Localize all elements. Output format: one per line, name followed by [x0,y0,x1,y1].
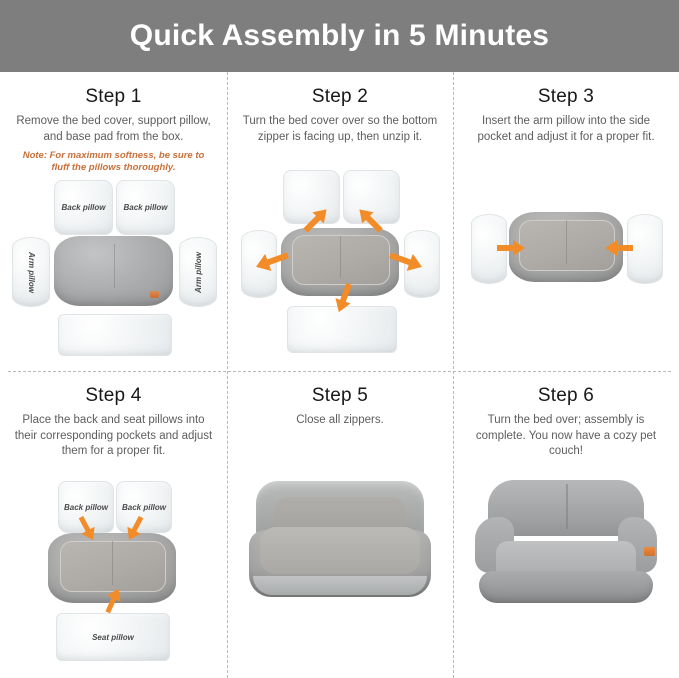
couch-back-seam [566,484,568,530]
step-panel-3: Step 3 Insert the arm pillow into the si… [453,72,679,371]
step-2-description: Turn the bed cover over so the bottom zi… [227,114,453,145]
brand-tag-icon [644,547,655,556]
step-panel-5: Step 5 Close all zippers. [227,371,453,678]
step-panel-1: Step 1 Remove the bed cover, support pil… [0,72,227,371]
bed-cover [54,236,173,306]
steps-grid: Step 1 Remove the bed cover, support pil… [0,72,679,678]
step-6-illustration [453,471,679,631]
step-panel-6: Step 6 Turn the bed over; assembly is co… [453,371,679,678]
cover-seam [114,244,115,287]
header-banner: Quick Assembly in 5 Minutes [0,0,679,72]
step-6-description: Turn the bed over; assembly is complete.… [453,413,679,460]
zipper-pull-icon [150,291,159,298]
arm-pillow-left-label: Arm pillow [27,252,36,293]
step-3-description: Insert the arm pillow into the side pock… [453,114,679,145]
back-pillow-right-label: Back pillow [123,203,167,212]
step-2-illustration [227,168,453,358]
couch-base [479,571,654,603]
step-panel-4: Step 4 Place the back and seat pillows i… [0,371,227,678]
back-pillow-left-label: Back pillow [61,203,105,212]
arrow-right-into-pocket-icon [497,240,525,256]
step-4-heading: Step 4 [0,385,227,407]
arm-pillow-right: Arm pillow [179,237,217,307]
step-4-description: Place the back and seat pillows into the… [0,413,227,460]
step-3-heading: Step 3 [453,86,679,108]
step-panel-2: Step 2 Turn the bed cover over so the bo… [227,72,453,371]
cover-seam [340,236,341,278]
back-pillow-left: Back pillow [54,180,113,235]
step-1-note: Note: For maximum softness, be sure to f… [0,150,227,175]
cover-seam [566,220,567,263]
arrow-left-into-pocket-icon [605,240,633,256]
seat-pillow: Seat pillow [56,613,170,661]
finished-pet-couch [469,477,663,611]
step-1-illustration: Back pillow Back pillow Arm pillow Arm p… [0,180,227,360]
back-pillow-right-label: Back pillow [122,503,166,512]
step-1-description: Remove the bed cover, support pillow, an… [0,114,227,145]
arm-pillow-left: Arm pillow [12,237,50,307]
arm-pillow-right-label: Arm pillow [194,252,203,293]
step-1-heading: Step 1 [0,86,227,108]
page-title: Quick Assembly in 5 Minutes [130,19,549,53]
step-4-illustration: Back pillow Back pillow Seat pillow [0,481,227,671]
bed-skirt [253,576,428,595]
infographic-sheet: Quick Assembly in 5 Minutes Step 1 Remov… [0,0,679,678]
step-5-heading: Step 5 [227,385,453,407]
seat-pillow-label: Seat pillow [92,633,134,642]
back-pillow-right: Back pillow [116,180,175,235]
back-pillow-left-label: Back pillow [64,503,108,512]
step-6-heading: Step 6 [453,385,679,407]
assembled-bed [249,481,431,597]
base-pad [58,314,172,356]
step-3-illustration [453,192,679,332]
step-5-description: Close all zippers. [227,413,453,429]
step-5-illustration [227,471,453,621]
bed-seat [260,527,420,573]
cover-seam [112,541,113,584]
step-2-heading: Step 2 [227,86,453,108]
